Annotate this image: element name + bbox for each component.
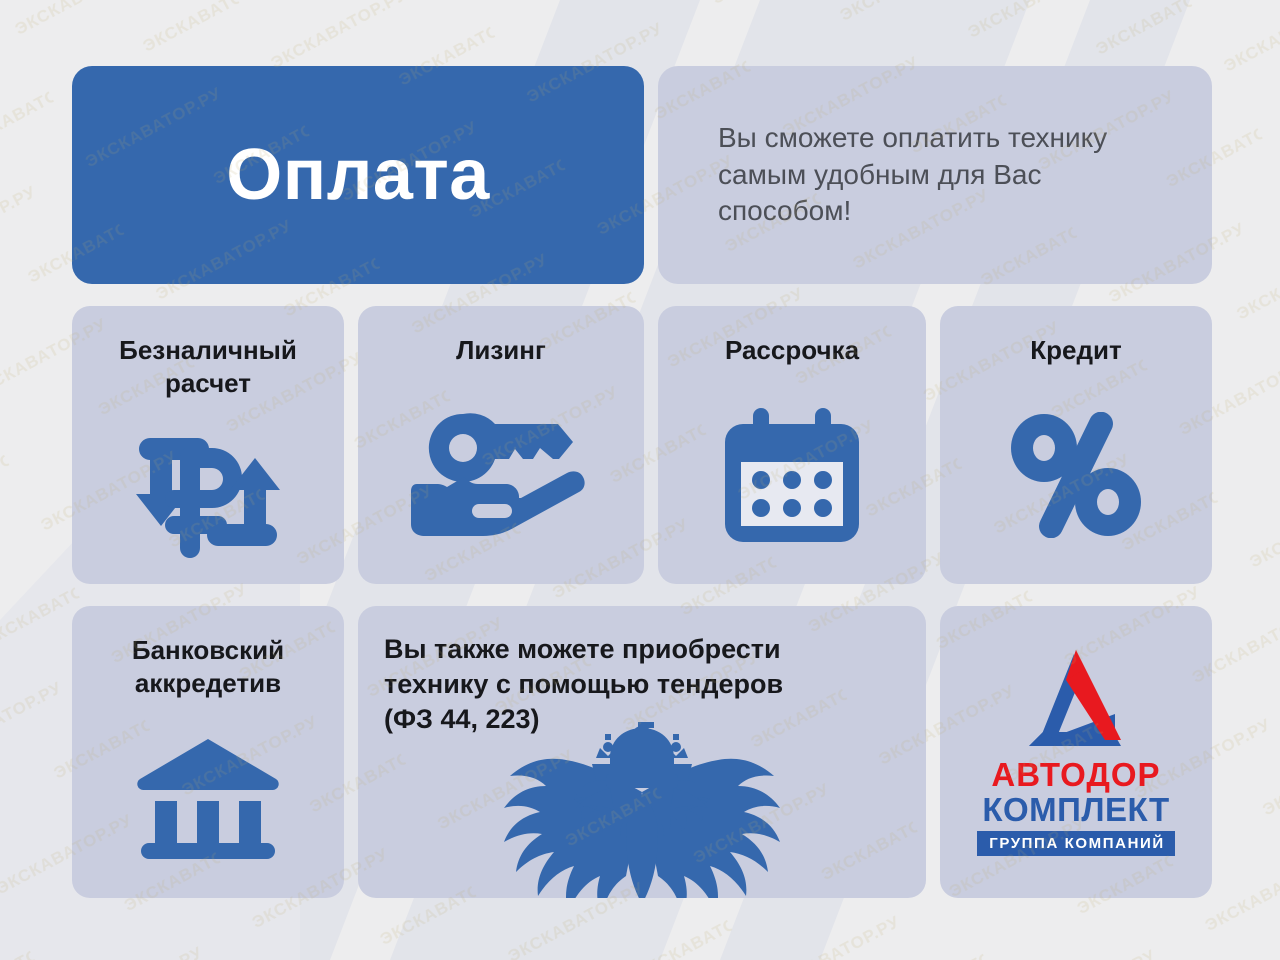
method-card-credit[interactable]: Кредит bbox=[940, 306, 1212, 584]
method-card-cashless[interactable]: Безналичный расчет bbox=[72, 306, 344, 584]
method-title: Кредит bbox=[1016, 334, 1135, 367]
method-title: Рассрочка bbox=[711, 334, 873, 367]
logo-tagline: ГРУППА КОМПАНИЙ bbox=[977, 831, 1175, 856]
method-icon-slot bbox=[658, 367, 926, 585]
brand-logo-card: АВТОДОР КОМПЛЕКТ ГРУППА КОМПАНИЙ bbox=[940, 606, 1212, 898]
calendar-icon bbox=[725, 408, 859, 542]
page-title: Оплата bbox=[226, 139, 490, 211]
method-icon-slot bbox=[72, 399, 344, 584]
logo-line-autodor: АВТОДОР bbox=[991, 758, 1160, 793]
intro-text: Вы сможете оплатить технику самым удобны… bbox=[718, 120, 1178, 231]
tender-text: Вы также можете приобрести технику с пом… bbox=[384, 632, 926, 737]
logo-inner: АВТОДОР КОМПЛЕКТ ГРУППА КОМПАНИЙ bbox=[978, 648, 1174, 856]
infographic-board: Оплата Вы сможете оплатить технику самым… bbox=[72, 66, 1208, 894]
method-card-installment[interactable]: Рассрочка bbox=[658, 306, 926, 584]
method-card-letter-of-credit[interactable]: Банковский аккредетив bbox=[72, 606, 344, 898]
method-card-leasing[interactable]: Лизинг bbox=[358, 306, 644, 584]
logo-line-komplekt: КОМПЛЕКТ bbox=[982, 793, 1169, 828]
method-title: Лизинг bbox=[442, 334, 560, 367]
method-title: Банковский аккредетив bbox=[72, 634, 344, 699]
method-icon-slot bbox=[358, 367, 644, 585]
tender-card: Вы также можете приобрести технику с пом… bbox=[358, 606, 926, 898]
ruble-transfer-icon bbox=[124, 422, 292, 562]
triangle-logo-mark bbox=[1017, 648, 1135, 752]
method-icon-slot bbox=[72, 699, 344, 898]
method-title: Безналичный расчет bbox=[72, 334, 344, 399]
percent-icon bbox=[1008, 412, 1144, 538]
bank-building-icon bbox=[135, 739, 281, 859]
hero-card: Оплата bbox=[72, 66, 644, 284]
method-icon-slot bbox=[940, 367, 1212, 585]
double-headed-eagle-icon bbox=[480, 722, 804, 898]
key-in-hand-icon bbox=[411, 412, 591, 538]
intro-card: Вы сможете оплатить технику самым удобны… bbox=[658, 66, 1212, 284]
